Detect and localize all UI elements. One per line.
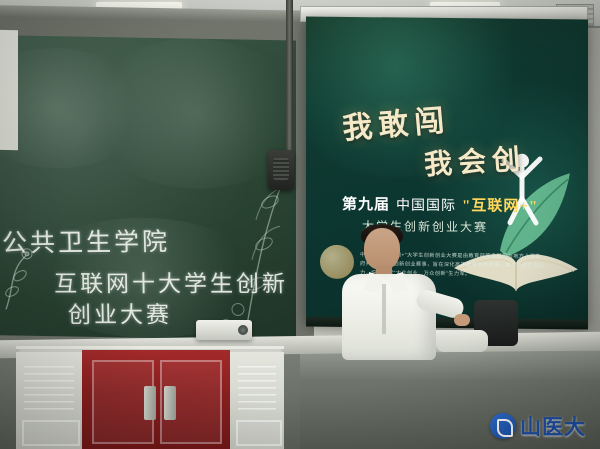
watermark: 山医大 — [484, 409, 592, 443]
slide-subtitle-highlight: "互联网+" — [462, 194, 538, 216]
watermark-text: 山医大 — [520, 411, 586, 441]
projector-mount-pole — [286, 0, 293, 168]
desk-projector-icon — [196, 320, 252, 340]
whiteboard-panel — [0, 30, 18, 150]
cabinet-panel-left — [16, 352, 82, 449]
cabinet-vent — [24, 366, 74, 412]
presenter-shirt — [342, 274, 436, 360]
cabinet-handle[interactable] — [144, 386, 156, 420]
presenter-head — [364, 228, 400, 270]
presenter-shirt-placket — [382, 284, 386, 334]
slide-subtitle-row: 第九届 中国国际 "互联网+" — [342, 193, 538, 216]
presenter-hand — [454, 314, 470, 326]
cabinet-panel-right — [230, 352, 284, 449]
classroom-photo: 公共卫生学院 互联网十大学生创新 创业大赛 我敢闯 我会创 — [0, 0, 600, 449]
cabinet-vent — [238, 366, 276, 412]
cabinet-handle[interactable] — [164, 386, 176, 420]
slide-subtitle-ordinal: 第九届 — [342, 193, 390, 215]
slide-subtitle-name: 中国国际 — [396, 194, 456, 215]
blackboard: 公共卫生学院 互联网十大学生创新 创业大赛 — [0, 35, 296, 340]
cabinet-panel-center — [82, 350, 230, 449]
university-logo-icon — [490, 413, 516, 439]
chalkboard-line-2: 互联网十大学生创新 — [54, 264, 289, 298]
presenter — [330, 228, 470, 368]
blackboard-frame: 公共卫生学院 互联网十大学生创新 创业大赛 — [0, 13, 314, 349]
slide-title-left: 我敢闯 — [340, 95, 451, 147]
chalkboard-line-3: 创业大赛 — [68, 295, 173, 329]
slide-title-right: 我会创 — [423, 137, 528, 183]
cabinet-door — [236, 420, 282, 446]
cabinet-door — [22, 420, 80, 446]
chalkboard-line-1: 公共卫生学院 — [2, 222, 171, 259]
wall-speaker-icon — [268, 150, 294, 190]
